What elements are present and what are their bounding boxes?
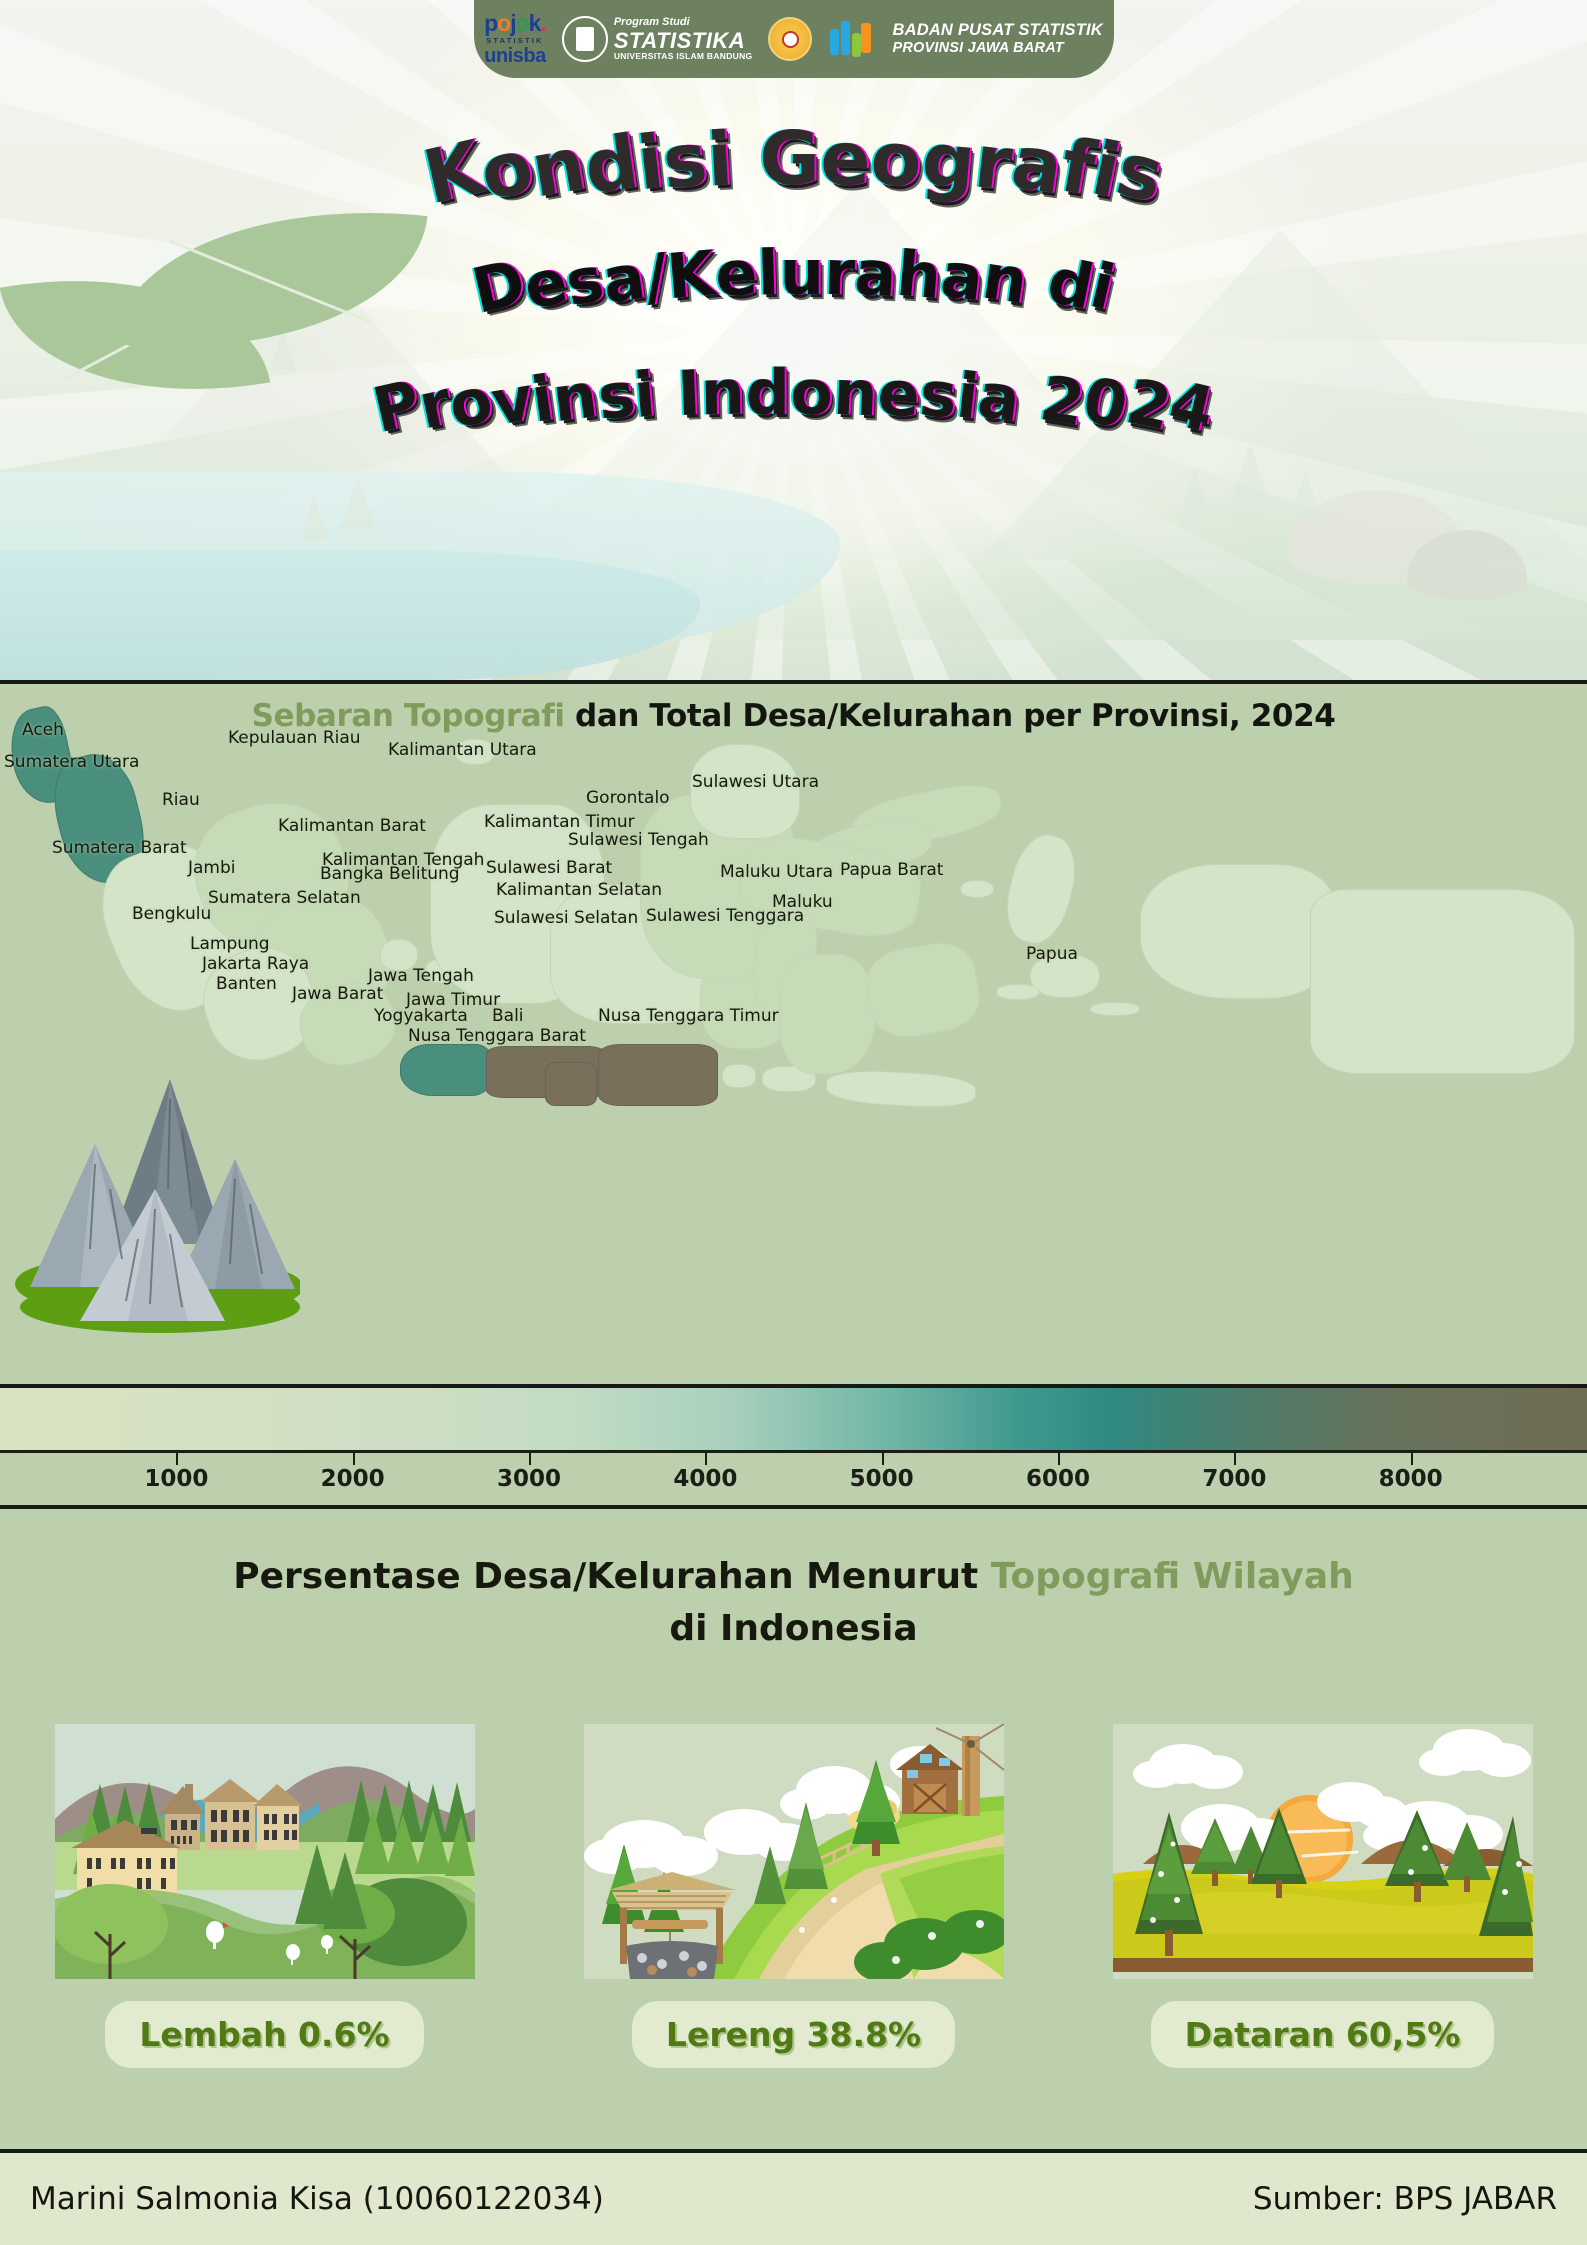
province-shape-jawa-barat (400, 1044, 495, 1096)
map-label-kalimantan-selatan: Kalimantan Selatan (496, 880, 662, 900)
province-shape-sulawesi-selatan (780, 954, 875, 1074)
map-section: Sebaran Topografi dan Total Desa/Kelurah… (0, 684, 1587, 1384)
map-label-sulawesi-tengah: Sulawesi Tengah (568, 830, 709, 850)
colorbar-tick-mark (705, 1453, 707, 1465)
colorbar-tick-label: 5000 (850, 1466, 914, 1492)
island-shape (1090, 1002, 1140, 1016)
divider-legend-percent (0, 1505, 1587, 1509)
colorbar-tick-label: 8000 (1379, 1466, 1443, 1492)
island-shape (960, 880, 994, 898)
colorbar-tick-mark (176, 1453, 178, 1465)
topography-card-dataran: Dataran 60,5% (1113, 1724, 1533, 2068)
bps-line2: PROVINSI JAWA BARAT (892, 40, 1102, 57)
map-title-black: dan Total Desa/Kelurahan per Provinsi, 2… (565, 698, 1336, 734)
hero-banner: pojok. STATISTIK unisba Program Studi ST… (0, 0, 1587, 680)
colorbar-tick-mark (1411, 1453, 1413, 1465)
topography-label-lereng: Lereng 38.8% (632, 2001, 955, 2068)
poster-title: Kondisi Geografis Desa/Kelurahan di Prov… (0, 120, 1587, 550)
map-label-gorontalo: Gorontalo (586, 788, 670, 808)
map-label-jambi: Jambi (188, 858, 236, 878)
island-shape (996, 984, 1040, 1000)
province-shape-bali (722, 1064, 756, 1088)
map-label-sulawesi-utara: Sulawesi Utara (692, 772, 819, 792)
map-label-ntb: Nusa Tenggara Barat (408, 1026, 586, 1046)
colorbar-tick-label: 4000 (673, 1466, 737, 1492)
colorbar-tick-mark (1058, 1453, 1060, 1465)
topography-card-lembah: Lembah 0.6% (55, 1724, 475, 2068)
map-label-jawa-tengah: Jawa Tengah (368, 966, 474, 986)
colorbar-tick-mark (882, 1453, 884, 1465)
unisba-line2: STATISTIKA (614, 29, 753, 52)
mountain-illustration-icon (10, 1039, 300, 1339)
map-label-bali: Bali (492, 1006, 524, 1026)
colorbar-tick-mark (1234, 1453, 1236, 1465)
map-label-papua: Papua (1026, 944, 1078, 964)
map-label-ntt: Nusa Tenggara Timur (598, 1006, 779, 1026)
map-label-jakarta-raya: Jakarta Raya (202, 954, 309, 974)
pct-title-green: Topografi Wilayah (991, 1556, 1354, 1597)
map-label-kalimantan-barat: Kalimantan Barat (278, 816, 426, 836)
map-label-kalimantan-utara: Kalimantan Utara (388, 740, 537, 760)
valley-village-illustration (55, 1724, 475, 1979)
bps-logo-icon (828, 17, 876, 61)
topography-cards: Lembah 0.6% (0, 1724, 1587, 2124)
topography-label-dataran: Dataran 60,5% (1151, 2001, 1495, 2068)
colorbar-tick-mark (353, 1453, 355, 1465)
topography-label-lembah: Lembah 0.6% (105, 2001, 423, 2068)
colorbar-gradient (0, 1388, 1587, 1450)
bps-label: BADAN PUSAT STATISTIK PROVINSI JAWA BARA… (892, 21, 1102, 57)
bps-line1: BADAN PUSAT STATISTIK (892, 21, 1102, 40)
province-shape-papua-barat (1140, 864, 1335, 999)
map-label-maluku-utara: Maluku Utara (720, 862, 833, 882)
map-label-riau: Riau (162, 790, 200, 810)
map-label-kepulauan-riau: Kepulauan Riau (228, 728, 361, 748)
pct-title-black-2: di Indonesia (669, 1608, 917, 1649)
logo-unisba: Program Studi STATISTIKA UNIVERSITAS ISL… (562, 16, 753, 62)
infographic-poster: pojok. STATISTIK unisba Program Studi ST… (0, 0, 1587, 2245)
accreditation-seal-icon (768, 17, 812, 61)
map-label-kalimantan-timur: Kalimantan Timur (484, 812, 635, 832)
footer-bar: Marini Salmonia Kisa (10060122034) Sumbe… (0, 2153, 1587, 2245)
map-label-lampung: Lampung (190, 934, 270, 954)
divider-top (0, 680, 1587, 684)
map-label-sulawesi-barat: Sulawesi Barat (486, 858, 612, 878)
plains-sunset-illustration (1113, 1724, 1533, 1979)
divider-footer (0, 2149, 1587, 2153)
colorbar-tick-label: 2000 (321, 1466, 385, 1492)
colorbar-tick-label: 6000 (1026, 1466, 1090, 1492)
unisba-line3: UNIVERSITAS ISLAM BANDUNG (614, 52, 753, 61)
colorbar-tick-label: 1000 (144, 1466, 208, 1492)
map-label-sumatera-utara: Sumatera Utara (4, 752, 139, 772)
logo-pojok-statistik: pojok. STATISTIK unisba (484, 12, 546, 66)
colorbar-axis (0, 1450, 1587, 1453)
colorbar-tick-label: 3000 (497, 1466, 561, 1492)
map-label-maluku: Maluku (772, 892, 833, 912)
title-line-2: Desa/Kelurahan di (0, 250, 1587, 323)
logo-pojok-sub: STATISTIK (486, 37, 543, 45)
province-shape-yogyakarta (545, 1062, 597, 1106)
map-label-banten: Banten (216, 974, 277, 994)
divider-map-legend (0, 1384, 1587, 1388)
province-shape-jawa-timur (598, 1044, 718, 1106)
map-label-sumatera-selatan: Sumatera Selatan (208, 888, 361, 908)
unisba-seal-icon (562, 16, 608, 62)
map-label-jawa-timur: Jawa Timur (406, 990, 500, 1010)
topography-card-lereng: Lereng 38.8% (584, 1724, 1004, 2068)
map-label-jawa-barat: Jawa Barat (292, 984, 383, 1004)
river-shape-inner (0, 550, 700, 680)
percentage-section: Persentase Desa/Kelurahan Menurut Topogr… (0, 1509, 1587, 2149)
province-shape-maluku-utara (998, 828, 1085, 950)
percentage-section-title: Persentase Desa/Kelurahan Menurut Topogr… (0, 1551, 1587, 1655)
province-shape-ntt (825, 1068, 977, 1110)
map-label-papua-barat: Papua Barat (840, 860, 943, 880)
map-label-aceh: Aceh (22, 720, 64, 740)
hillside-farm-illustration (584, 1724, 1004, 1979)
map-label-sulawesi-selatan: Sulawesi Selatan (494, 908, 638, 928)
map-label-sumatera-barat: Sumatera Barat (52, 838, 187, 858)
province-shape-papua (1310, 889, 1575, 1074)
colorbar-tick-mark (529, 1453, 531, 1465)
colorbar-tick-label: 7000 (1202, 1466, 1266, 1492)
province-shape-sulawesi-tenggara (861, 937, 985, 1043)
footer-author: Marini Salmonia Kisa (10060122034) (30, 2181, 604, 2217)
title-line-1: Kondisi Geografis (0, 130, 1587, 216)
map-label-kalimantan-tengah: Kalimantan Tengah (322, 850, 484, 870)
pct-title-black-1: Persentase Desa/Kelurahan Menurut (233, 1556, 990, 1597)
footer-source: Sumber: BPS JABAR (1253, 2181, 1557, 2217)
map-label-bengkulu: Bengkulu (132, 904, 211, 924)
logo-pojok-brand: unisba (484, 46, 545, 66)
colorbar-legend: 10002000300040005000600070008000 (0, 1388, 1587, 1506)
title-line-3: Provinsi Indonesia 2024 (0, 370, 1587, 443)
logo-bar: pojok. STATISTIK unisba Program Studi ST… (474, 0, 1114, 78)
